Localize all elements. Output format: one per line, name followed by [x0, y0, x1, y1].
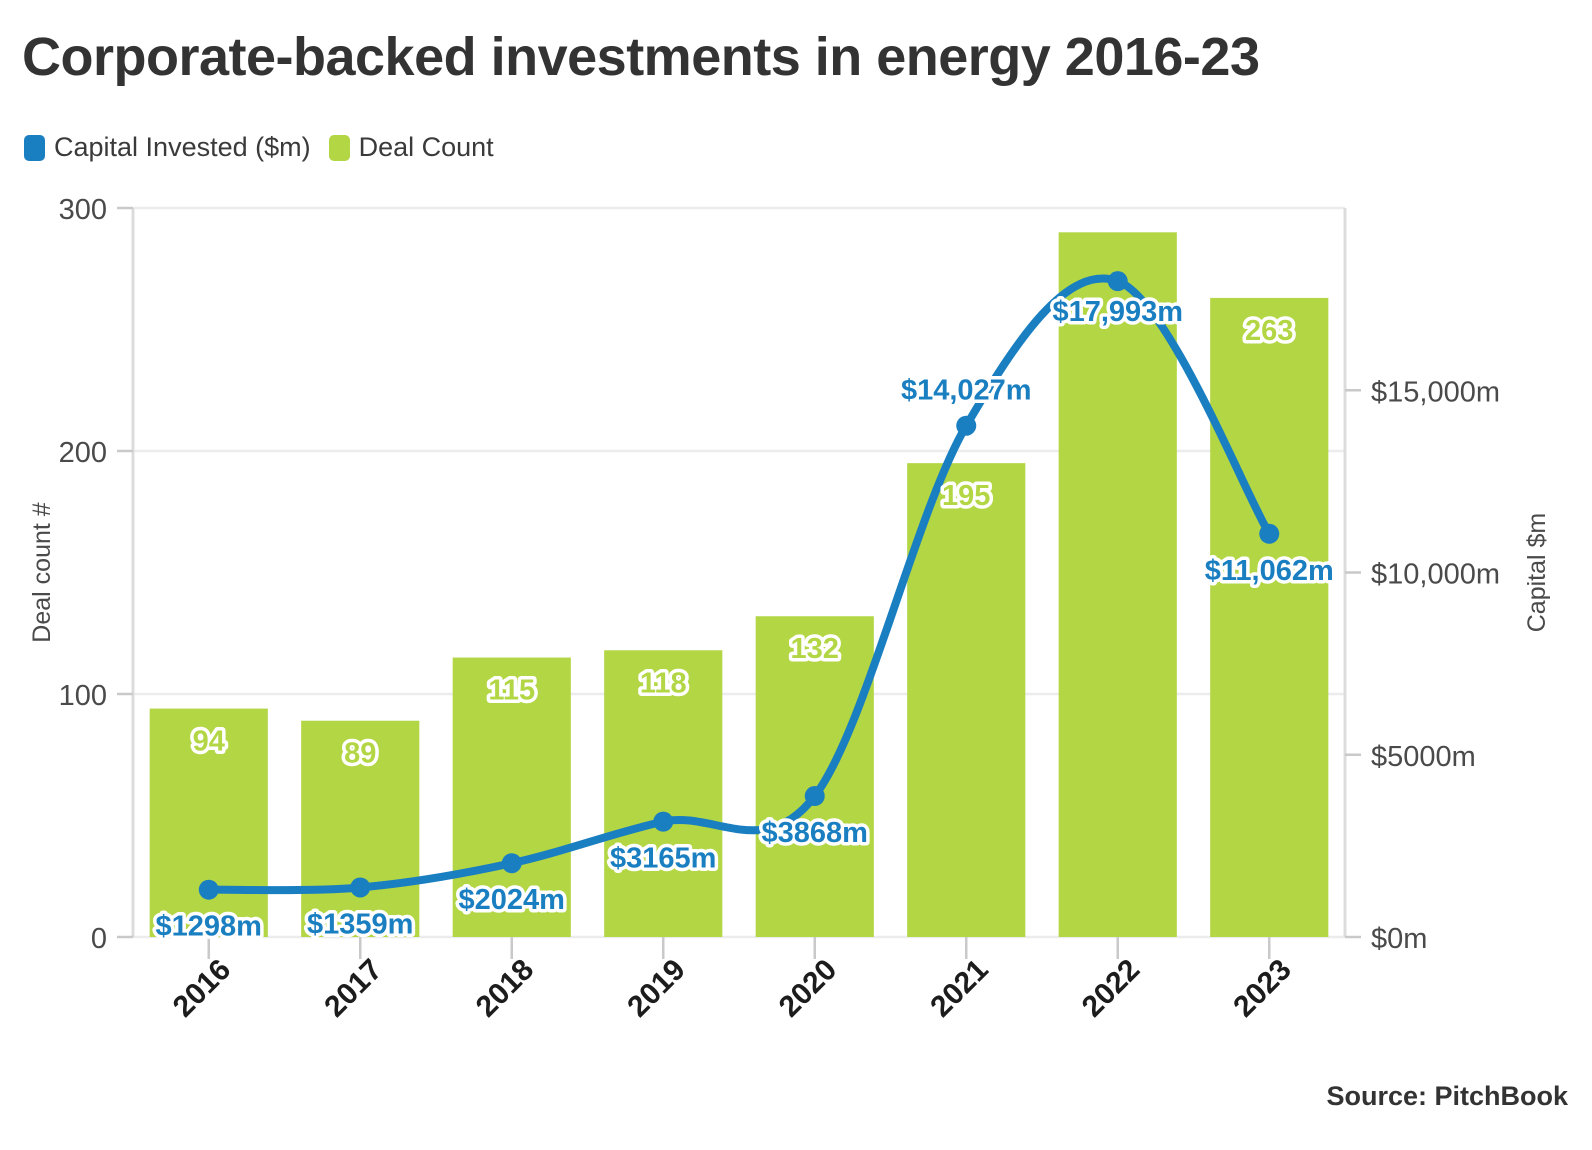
right-axis-labels-group: $0m$5000m$10,000m$15,000m	[1371, 376, 1500, 955]
category-label-2023: 2023	[1227, 953, 1298, 1024]
bar-value-label-2021: 195	[942, 480, 990, 512]
line-value-label-2020: $3868m	[762, 817, 868, 849]
line-point-2023[interactable]	[1259, 524, 1279, 544]
category-label-2017: 2017	[318, 953, 389, 1024]
line-point-2019[interactable]	[653, 812, 673, 832]
category-label-2016: 2016	[167, 953, 238, 1024]
source-caption: Source: PitchBook	[1326, 1081, 1568, 1112]
bar-2022[interactable]	[1059, 232, 1177, 937]
bar-value-label-2016: 94	[193, 726, 225, 758]
bar-value-label-2023: 263	[1245, 315, 1293, 347]
right-axis-tick-label: $0m	[1371, 923, 1427, 955]
right-axis-tick-label: $15,000m	[1371, 376, 1500, 408]
right-axis-title: Capital $m	[1523, 513, 1551, 633]
line-point-2020[interactable]	[805, 786, 825, 806]
bar-value-label-2019: 118	[640, 667, 687, 699]
category-label-2021: 2021	[924, 953, 995, 1024]
category-label-2022: 2022	[1076, 953, 1147, 1024]
category-labels-group: 20162017201820192020202120222023	[167, 953, 1298, 1024]
line-point-2017[interactable]	[350, 877, 370, 897]
right-axis-tick-label: $10,000m	[1371, 559, 1500, 591]
line-value-label-2018: $2024m	[459, 884, 565, 916]
line-point-2016[interactable]	[199, 880, 219, 900]
bar-2021[interactable]	[907, 463, 1025, 937]
left-axis-tick-label: 100	[59, 680, 107, 712]
left-axis-tick-label: 200	[59, 437, 107, 469]
chart-plot: 9489115118132195263 $1298m$1359m$2024m$3…	[0, 0, 1592, 1150]
right-axis-tick-label: $5000m	[1371, 741, 1476, 773]
line-point-2018[interactable]	[502, 853, 522, 873]
bar-value-label-2020: 132	[791, 633, 839, 665]
chart-container: Corporate-backed investments in energy 2…	[0, 0, 1592, 1150]
line-value-label-2021: $14,027m	[901, 375, 1032, 407]
left-axis-title: Deal count #	[28, 502, 56, 642]
category-label-2018: 2018	[470, 953, 541, 1024]
bar-value-label-2017: 89	[344, 738, 376, 770]
left-axis-tick-label: 0	[91, 923, 107, 955]
left-axis-tick-label: 300	[59, 194, 107, 226]
bar-2023[interactable]	[1210, 298, 1328, 937]
line-point-2021[interactable]	[956, 416, 976, 436]
line-value-label-2019: $3165m	[610, 843, 716, 875]
line-value-label-2016: $1298m	[156, 911, 262, 943]
line-point-2022[interactable]	[1108, 271, 1128, 291]
bar-value-label-2018: 115	[488, 675, 535, 707]
category-label-2020: 2020	[773, 953, 844, 1024]
line-value-label-2017: $1359m	[307, 908, 413, 940]
left-axis-labels-group: 0100200300	[59, 194, 107, 955]
category-label-2019: 2019	[621, 953, 692, 1024]
line-value-label-2022: $17,993m	[1052, 296, 1183, 328]
line-value-label-2023: $11,062m	[1205, 555, 1334, 587]
